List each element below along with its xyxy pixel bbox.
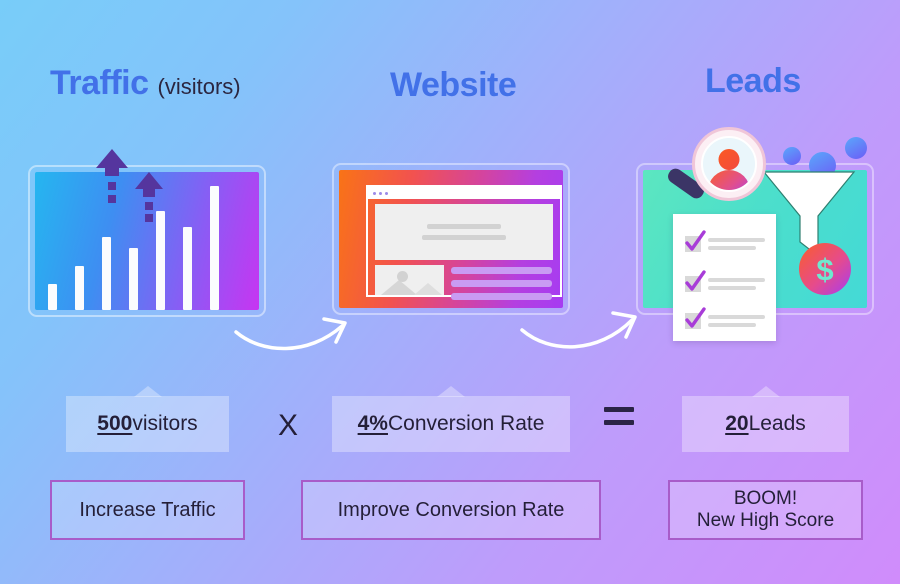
checklist-text-lines (708, 278, 765, 290)
bubble-icon (783, 147, 801, 165)
text-placeholder-line (708, 323, 756, 327)
chart-bar (183, 227, 192, 310)
text-placeholder-line (708, 278, 765, 282)
heading-traffic-subtext: (visitors) (158, 74, 241, 99)
checkbox-checked-icon (685, 313, 701, 329)
mountain-shape-icon (381, 280, 417, 295)
image-placeholder (375, 265, 444, 295)
window-dot-icon (385, 192, 388, 195)
operator-equals (604, 407, 634, 425)
heading-leads: Leads (705, 62, 801, 101)
side-content-bars (451, 267, 552, 300)
up-arrow-icon (134, 172, 164, 232)
text-placeholder-line (422, 235, 506, 240)
heading-website: Website (390, 66, 516, 105)
magnifier-lens (701, 136, 757, 192)
checklist-item (685, 276, 765, 292)
text-placeholder-line (708, 315, 765, 319)
chart-bar (129, 248, 138, 310)
text-placeholder-line (708, 246, 756, 250)
chart-bar (102, 237, 111, 310)
formula-website-label: Conversion Rate (388, 412, 544, 436)
checklist-text-lines (708, 315, 765, 327)
chart-bar (75, 266, 84, 310)
coin-symbol: $ (816, 254, 833, 285)
text-placeholder-line (427, 224, 501, 229)
traffic-illustration (28, 165, 266, 317)
avatar-head-icon (719, 149, 740, 170)
content-bar (451, 293, 552, 300)
callout-notch (134, 386, 162, 397)
up-arrow-icon (95, 149, 129, 217)
content-bar (451, 280, 552, 287)
infographic-canvas: Traffic (visitors) Website Leads (0, 0, 900, 584)
browser-window (366, 185, 562, 297)
monitor-screen (339, 170, 563, 308)
cta-improve-conversion-rate[interactable]: Improve Conversion Rate (301, 480, 601, 540)
equals-bar (604, 407, 634, 412)
window-dot-icon (379, 192, 382, 195)
hero-block (375, 204, 553, 260)
equals-bar (604, 420, 634, 425)
avatar-body-icon (708, 170, 750, 192)
checklist-item (685, 236, 765, 252)
cta-leads-label: BOOM! New High Score (697, 488, 834, 532)
website-illustration (332, 163, 570, 315)
formula-leads-label: Leads (749, 412, 806, 436)
operator-multiply: X (278, 409, 298, 443)
cta-traffic-label: Increase Traffic (79, 499, 215, 522)
text-placeholder-line (708, 286, 756, 290)
cta-website-label: Improve Conversion Rate (338, 499, 565, 522)
formula-box-website: 4% Conversion Rate (332, 396, 570, 452)
browser-titlebar (368, 187, 560, 199)
checkbox-checked-icon (685, 236, 701, 252)
chart-bar (48, 284, 57, 310)
formula-box-traffic: 500 visitors (66, 396, 229, 452)
callout-notch (752, 386, 780, 397)
checklist-card (673, 214, 776, 341)
dollar-coin-icon: $ (799, 243, 851, 295)
text-placeholder-line (708, 238, 765, 242)
checklist-item (685, 313, 765, 329)
chart-bar (210, 186, 219, 310)
formula-traffic-label: visitors (132, 412, 197, 436)
checklist-text-lines (708, 238, 765, 250)
mountain-shape-icon (414, 283, 442, 295)
cta-leads-line1: BOOM! (734, 488, 797, 509)
sun-circle-icon (397, 271, 408, 282)
formula-leads-number: 20 (725, 412, 748, 436)
formula-website-number: 4% (358, 412, 388, 436)
magnifier-icon (692, 127, 766, 201)
cta-leads-line2: New High Score (697, 510, 834, 531)
heading-traffic-text: Traffic (50, 64, 149, 102)
curved-arrow-icon (232, 312, 354, 365)
content-bar (451, 267, 552, 274)
checkbox-checked-icon (685, 276, 701, 292)
bubble-icon (845, 137, 867, 159)
window-dot-icon (373, 192, 376, 195)
callout-notch (437, 386, 465, 397)
formula-box-leads: 20 Leads (682, 396, 849, 452)
cta-increase-traffic[interactable]: Increase Traffic (50, 480, 245, 540)
curved-arrow-icon (518, 308, 644, 363)
cta-boom-new-high-score[interactable]: BOOM! New High Score (668, 480, 863, 540)
formula-traffic-number: 500 (97, 412, 132, 436)
heading-traffic: Traffic (visitors) (50, 64, 241, 103)
